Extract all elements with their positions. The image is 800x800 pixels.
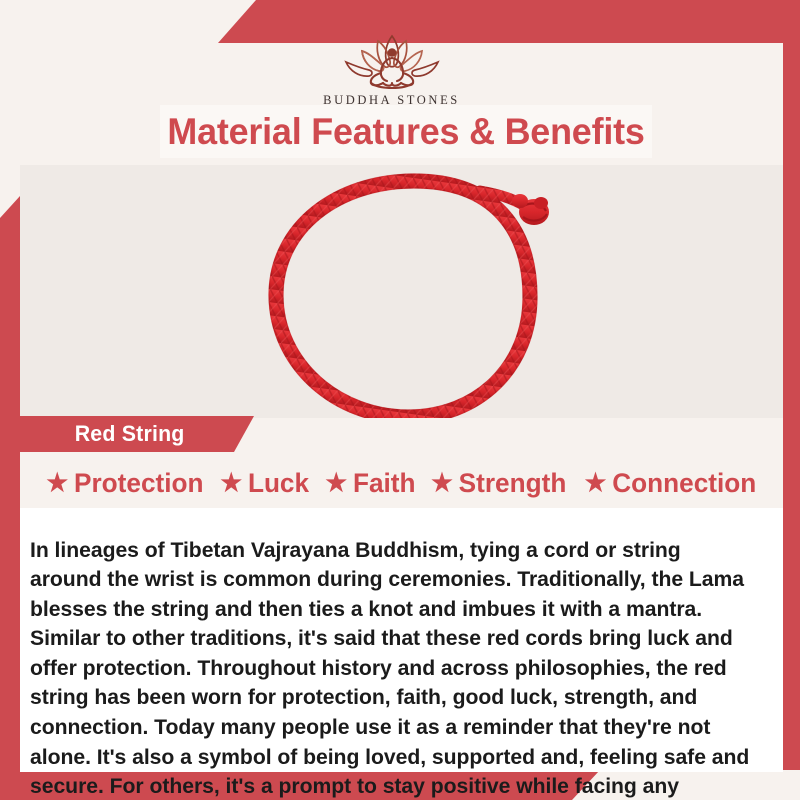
material-banner-label: Red String (75, 421, 185, 447)
benefits-row: ★ Protection ★ Luck ★ Faith ★ Strength ★… (20, 464, 783, 502)
star-icon: ★ (220, 471, 242, 496)
benefit-item: ★ Strength (432, 470, 567, 497)
star-icon: ★ (585, 471, 607, 496)
brand-header: BUDDHA STONES (0, 43, 783, 103)
description-panel: In lineages of Tibetan Vajrayana Buddhis… (20, 508, 783, 772)
star-icon: ★ (432, 471, 454, 496)
benefit-item: ★ Connection (585, 470, 757, 497)
benefit-label: Strength (459, 470, 567, 497)
brand-logo: BUDDHA STONES (323, 30, 460, 108)
decorative-frame-top-right (218, 0, 800, 43)
benefit-label: Faith (353, 470, 416, 497)
description-text: In lineages of Tibetan Vajrayana Buddhis… (30, 536, 758, 800)
benefit-label: Connection (612, 470, 756, 497)
star-icon: ★ (47, 471, 69, 496)
product-photo (20, 165, 783, 418)
page-title: Material Features & Benefits (160, 105, 652, 158)
benefit-label: Protection (74, 470, 204, 497)
star-icon: ★ (325, 471, 347, 496)
benefit-item: ★ Luck (220, 470, 309, 497)
page-title-text: Material Features & Benefits (167, 113, 644, 150)
lotus-meditation-icon (326, 30, 458, 92)
decorative-frame-left (0, 196, 20, 800)
material-banner: Red String (20, 416, 254, 452)
benefit-item: ★ Protection (47, 470, 204, 497)
decorative-frame-right (783, 0, 800, 770)
product-infographic: BUDDHA STONES Material Features & Benefi… (0, 0, 800, 800)
benefit-label: Luck (248, 470, 309, 497)
benefit-item: ★ Faith (325, 470, 415, 497)
red-string-bracelet-image (242, 167, 582, 418)
